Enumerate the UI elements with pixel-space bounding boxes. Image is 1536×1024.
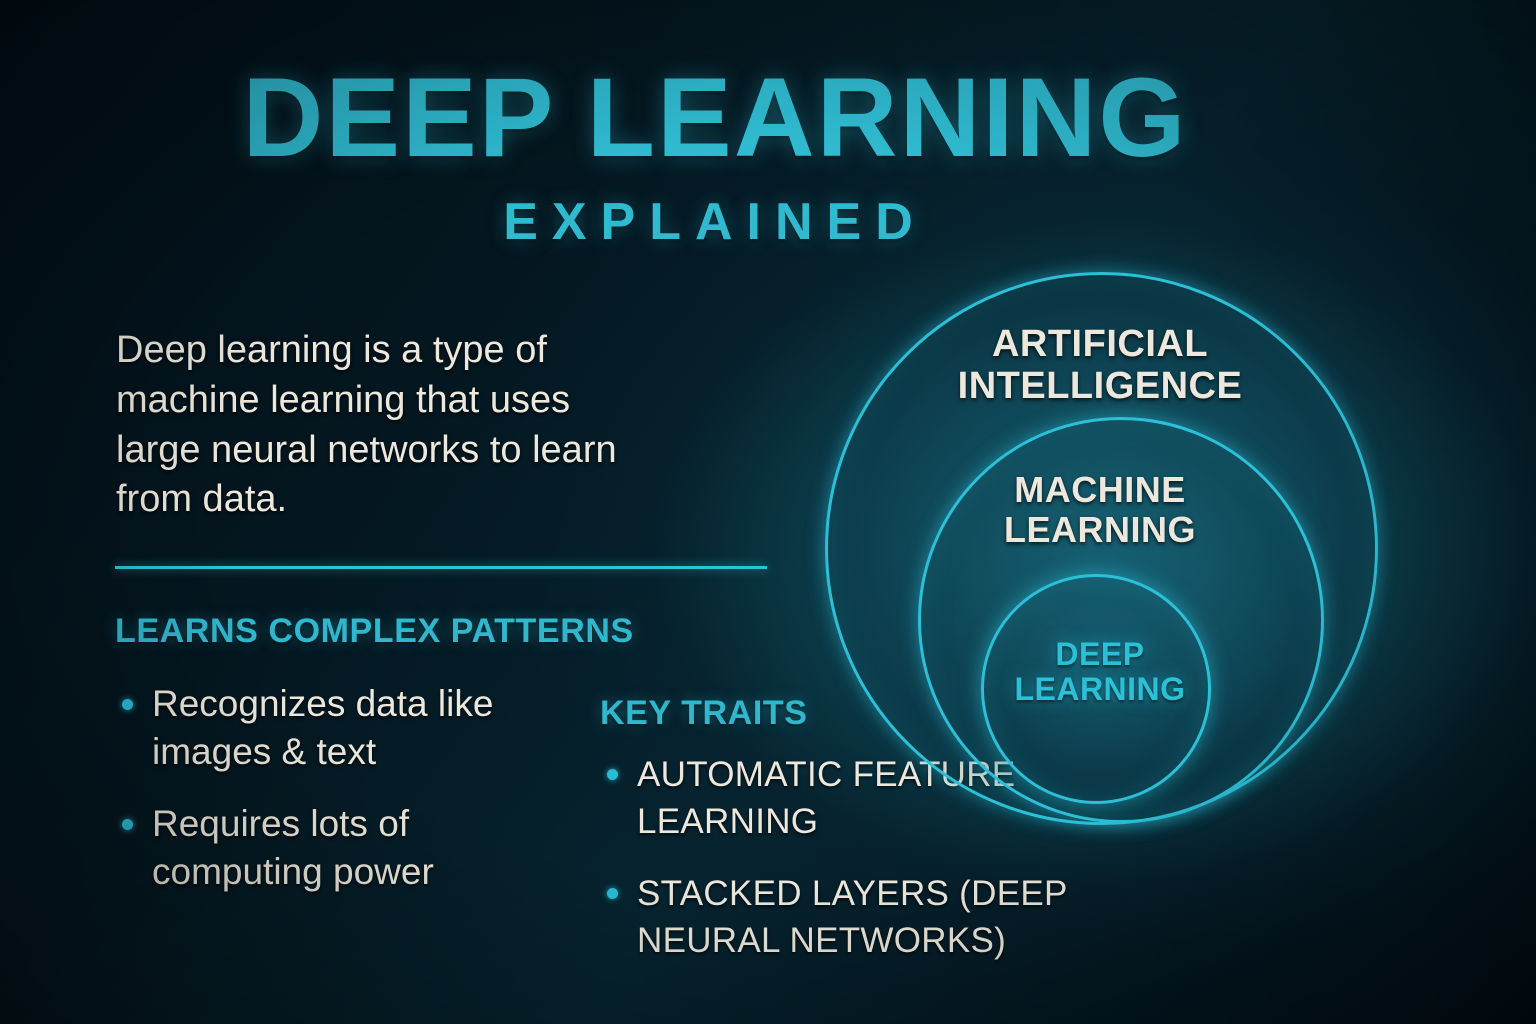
- circle-label-deep-learning: DEEP LEARNING: [800, 637, 1400, 707]
- circle-label-artificial-intelligence: ARTIFICIAL INTELLIGENCE: [800, 324, 1400, 408]
- bullet-dot-icon: [122, 819, 133, 830]
- key-traits-heading: KEY TRAITS: [600, 694, 808, 733]
- bullet-dot-icon: [607, 769, 618, 780]
- infographic-poster: DEEP LEARNING EXPLAINED Deep learning is…: [0, 0, 1536, 1024]
- page-title: DEEP LEARNING: [0, 62, 1430, 174]
- circle-label-machine-learning: MACHINE LEARNING: [800, 470, 1400, 549]
- list-item-label: STACKED LAYERS (DEEP NEURAL NETWORKS): [637, 874, 1067, 960]
- list-item-label: Requires lots of computing power: [152, 803, 434, 892]
- learns-complex-patterns-list: Recognizes data like images & text Requi…: [115, 680, 555, 920]
- nested-circles-diagram: ARTIFICIAL INTELLIGENCE MACHINE LEARNING…: [800, 252, 1400, 852]
- page-subtitle: EXPLAINED: [0, 192, 1430, 252]
- section-divider: [115, 566, 767, 569]
- list-item: STACKED LAYERS (DEEP NEURAL NETWORKS): [600, 871, 1180, 964]
- title-block: DEEP LEARNING EXPLAINED: [0, 62, 1430, 252]
- bullet-dot-icon: [122, 699, 133, 710]
- learns-complex-patterns-heading: LEARNS COMPLEX PATTERNS: [115, 612, 634, 651]
- list-item: Requires lots of computing power: [115, 800, 555, 896]
- list-item: Recognizes data like images & text: [115, 680, 555, 776]
- intro-paragraph: Deep learning is a type of machine learn…: [116, 326, 646, 525]
- bullet-dot-icon: [607, 888, 618, 899]
- list-item-label: Recognizes data like images & text: [152, 683, 493, 772]
